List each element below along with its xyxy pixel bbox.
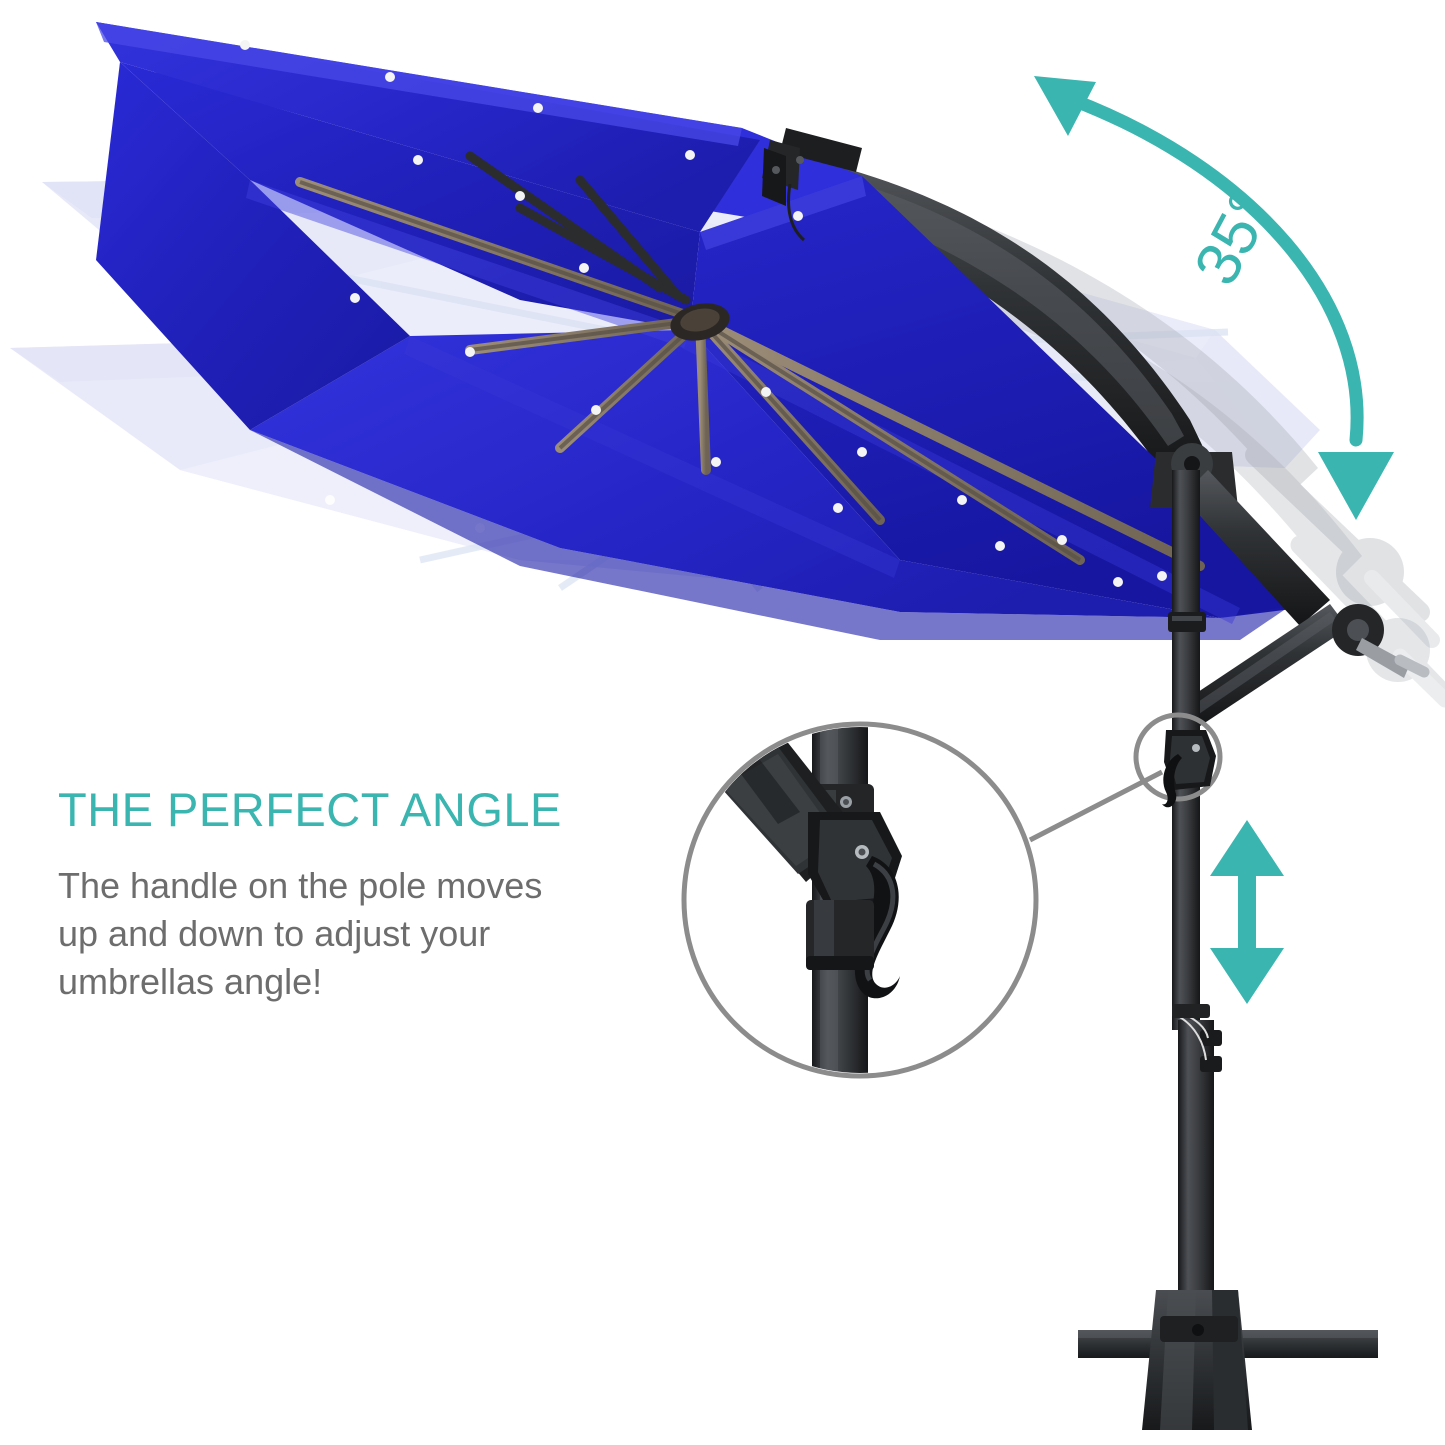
page-title: THE PERFECT ANGLE [58,784,658,836]
feature-description: The handle on the pole moves up and down… [58,862,638,1006]
umbrella-illustration: 35° [0,0,1445,1445]
feature-copy-block: THE PERFECT ANGLE The handle on the pole… [58,784,658,1006]
cross-base [1078,1290,1378,1430]
handle-detail-callout [684,700,1220,1100]
product-feature-image: 35° THE PERFECT ANGLE The handle on the … [0,0,1445,1445]
height-adjust-double-arrow [1210,820,1284,1004]
description-line-2: up and down to adjust your [58,910,638,958]
description-line-3: umbrellas angle! [58,958,638,1006]
callout-magnified-content [684,700,1036,1100]
angle-label-text: 35° [1181,181,1286,296]
description-line-1: The handle on the pole moves [58,862,638,910]
angle-label: 35° [1181,181,1286,296]
